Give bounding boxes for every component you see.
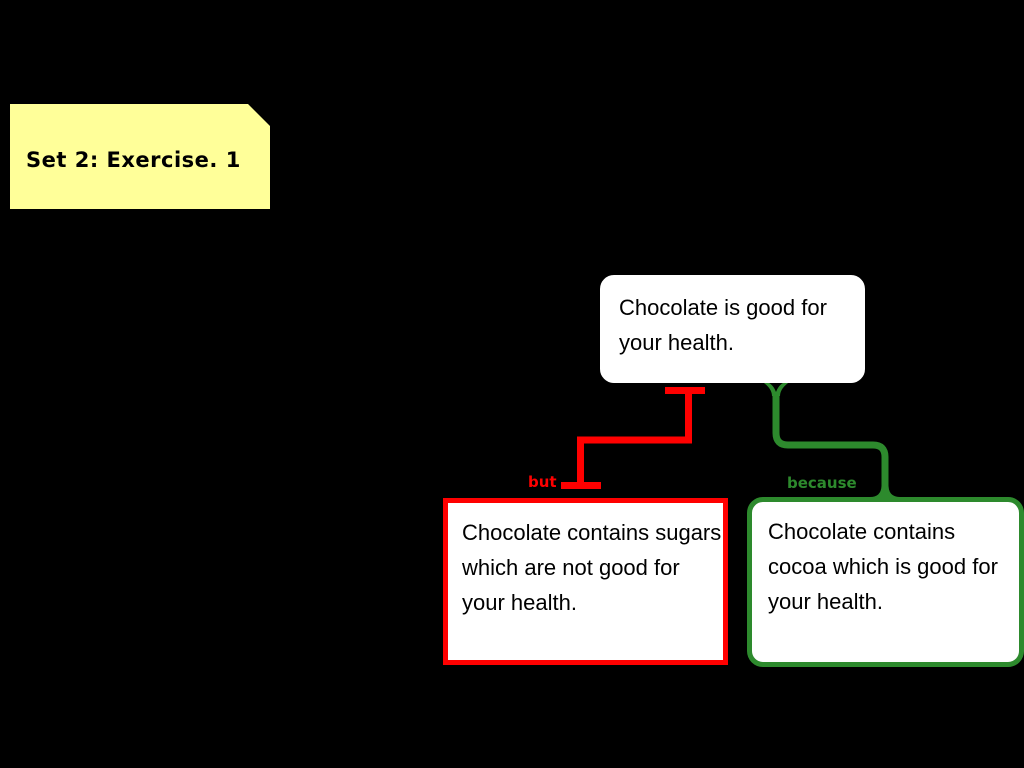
claim-box-objection[interactable]: Chocolate contains sugars which are not … — [443, 498, 728, 665]
connector-objection — [561, 387, 705, 489]
claim-support-text: Chocolate contains cocoa which is good f… — [768, 514, 1019, 619]
objection-connector-top-bar — [665, 387, 705, 394]
connector-label-because[interactable]: because — [787, 474, 857, 492]
objection-connector-bottom-bar — [561, 482, 601, 489]
support-connector-top-flare — [761, 381, 791, 396]
sticky-note-fold-wrapper — [1000, 0, 1024, 24]
claim-box-root[interactable]: Chocolate is good for your health. — [600, 275, 865, 383]
support-connector-path — [776, 392, 885, 487]
claim-root-text: Chocolate is good for your health. — [619, 290, 846, 360]
sticky-note[interactable]: Set 2: Exercise. 1 — [10, 104, 270, 209]
sticky-note-label: Set 2: Exercise. 1 — [26, 148, 241, 172]
connector-label-but[interactable]: but — [528, 473, 557, 491]
claim-objection-text: Chocolate contains sugars which are not … — [462, 515, 723, 620]
support-connector-bottom-flare — [870, 486, 900, 497]
claim-box-support[interactable]: Chocolate contains cocoa which is good f… — [747, 497, 1024, 667]
objection-connector-path — [581, 391, 689, 485]
folded-corner-icon — [1002, 0, 1024, 22]
